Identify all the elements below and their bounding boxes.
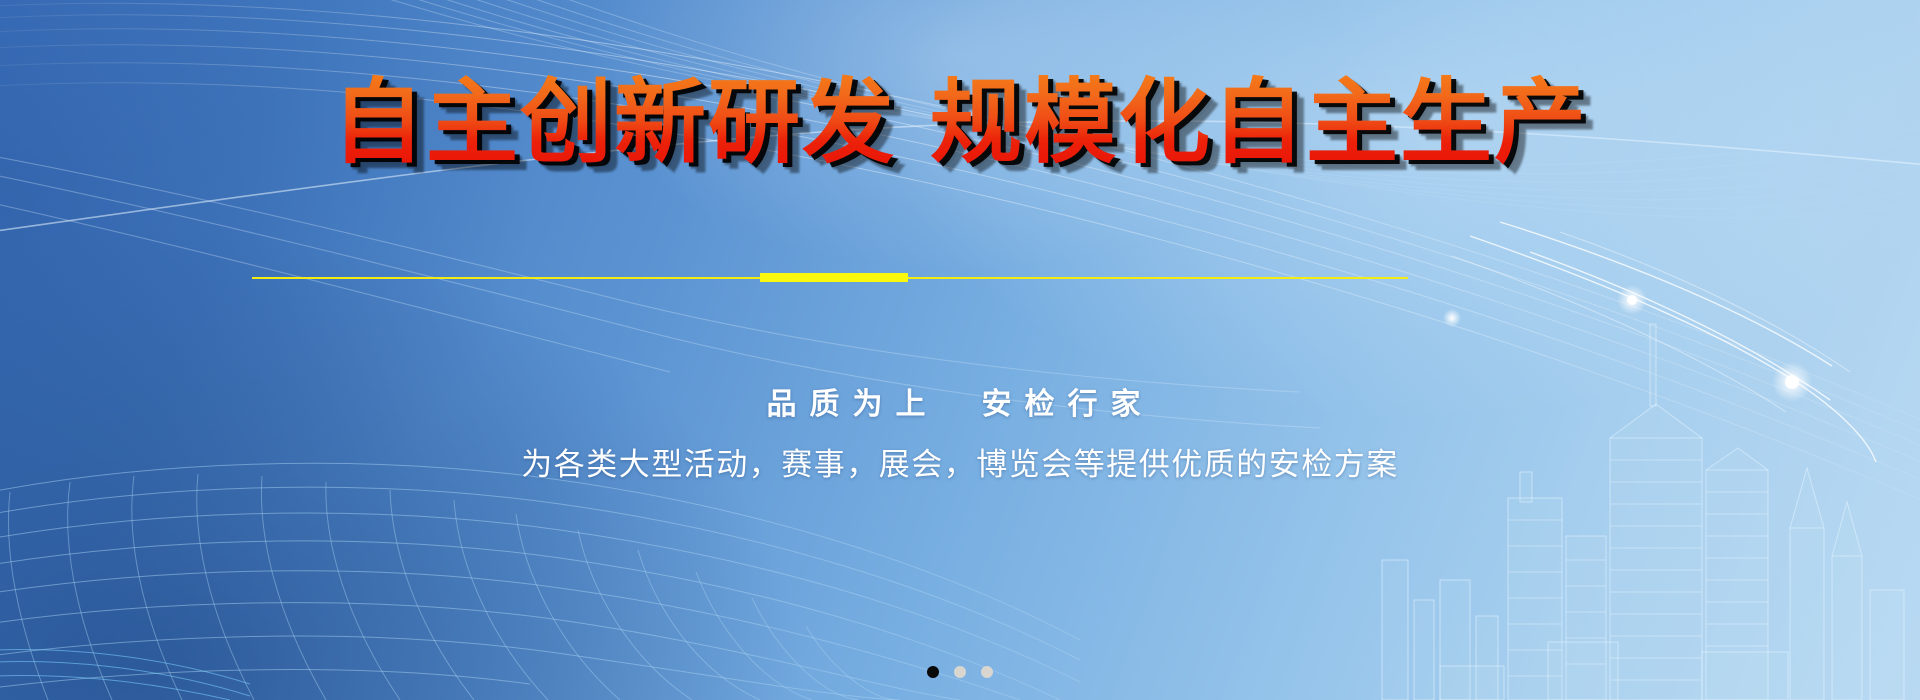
carousel-dot-1[interactable] (927, 666, 939, 678)
carousel-dots[interactable] (0, 666, 1920, 678)
carousel-dot-3[interactable] (981, 666, 993, 678)
slogan-primary: 品质为上 安检行家 (0, 382, 1920, 427)
slogan-container: 品质为上 安检行家 为各类大型活动，赛事，展会，博览会等提供优质的安检方案 (0, 382, 1920, 489)
headline-container: 自主创新研发 规模化自主生产 (0, 74, 1920, 172)
divider-accent-bar (760, 273, 908, 282)
hero-banner: 自主创新研发 规模化自主生产 品质为上 安检行家 为各类大型活动，赛事，展会，博… (0, 0, 1920, 700)
divider (0, 270, 1920, 288)
slogan-secondary: 为各类大型活动，赛事，展会，博览会等提供优质的安检方案 (0, 442, 1920, 489)
carousel-dot-2[interactable] (954, 666, 966, 678)
page-title: 自主创新研发 规模化自主生产 (332, 74, 1588, 172)
